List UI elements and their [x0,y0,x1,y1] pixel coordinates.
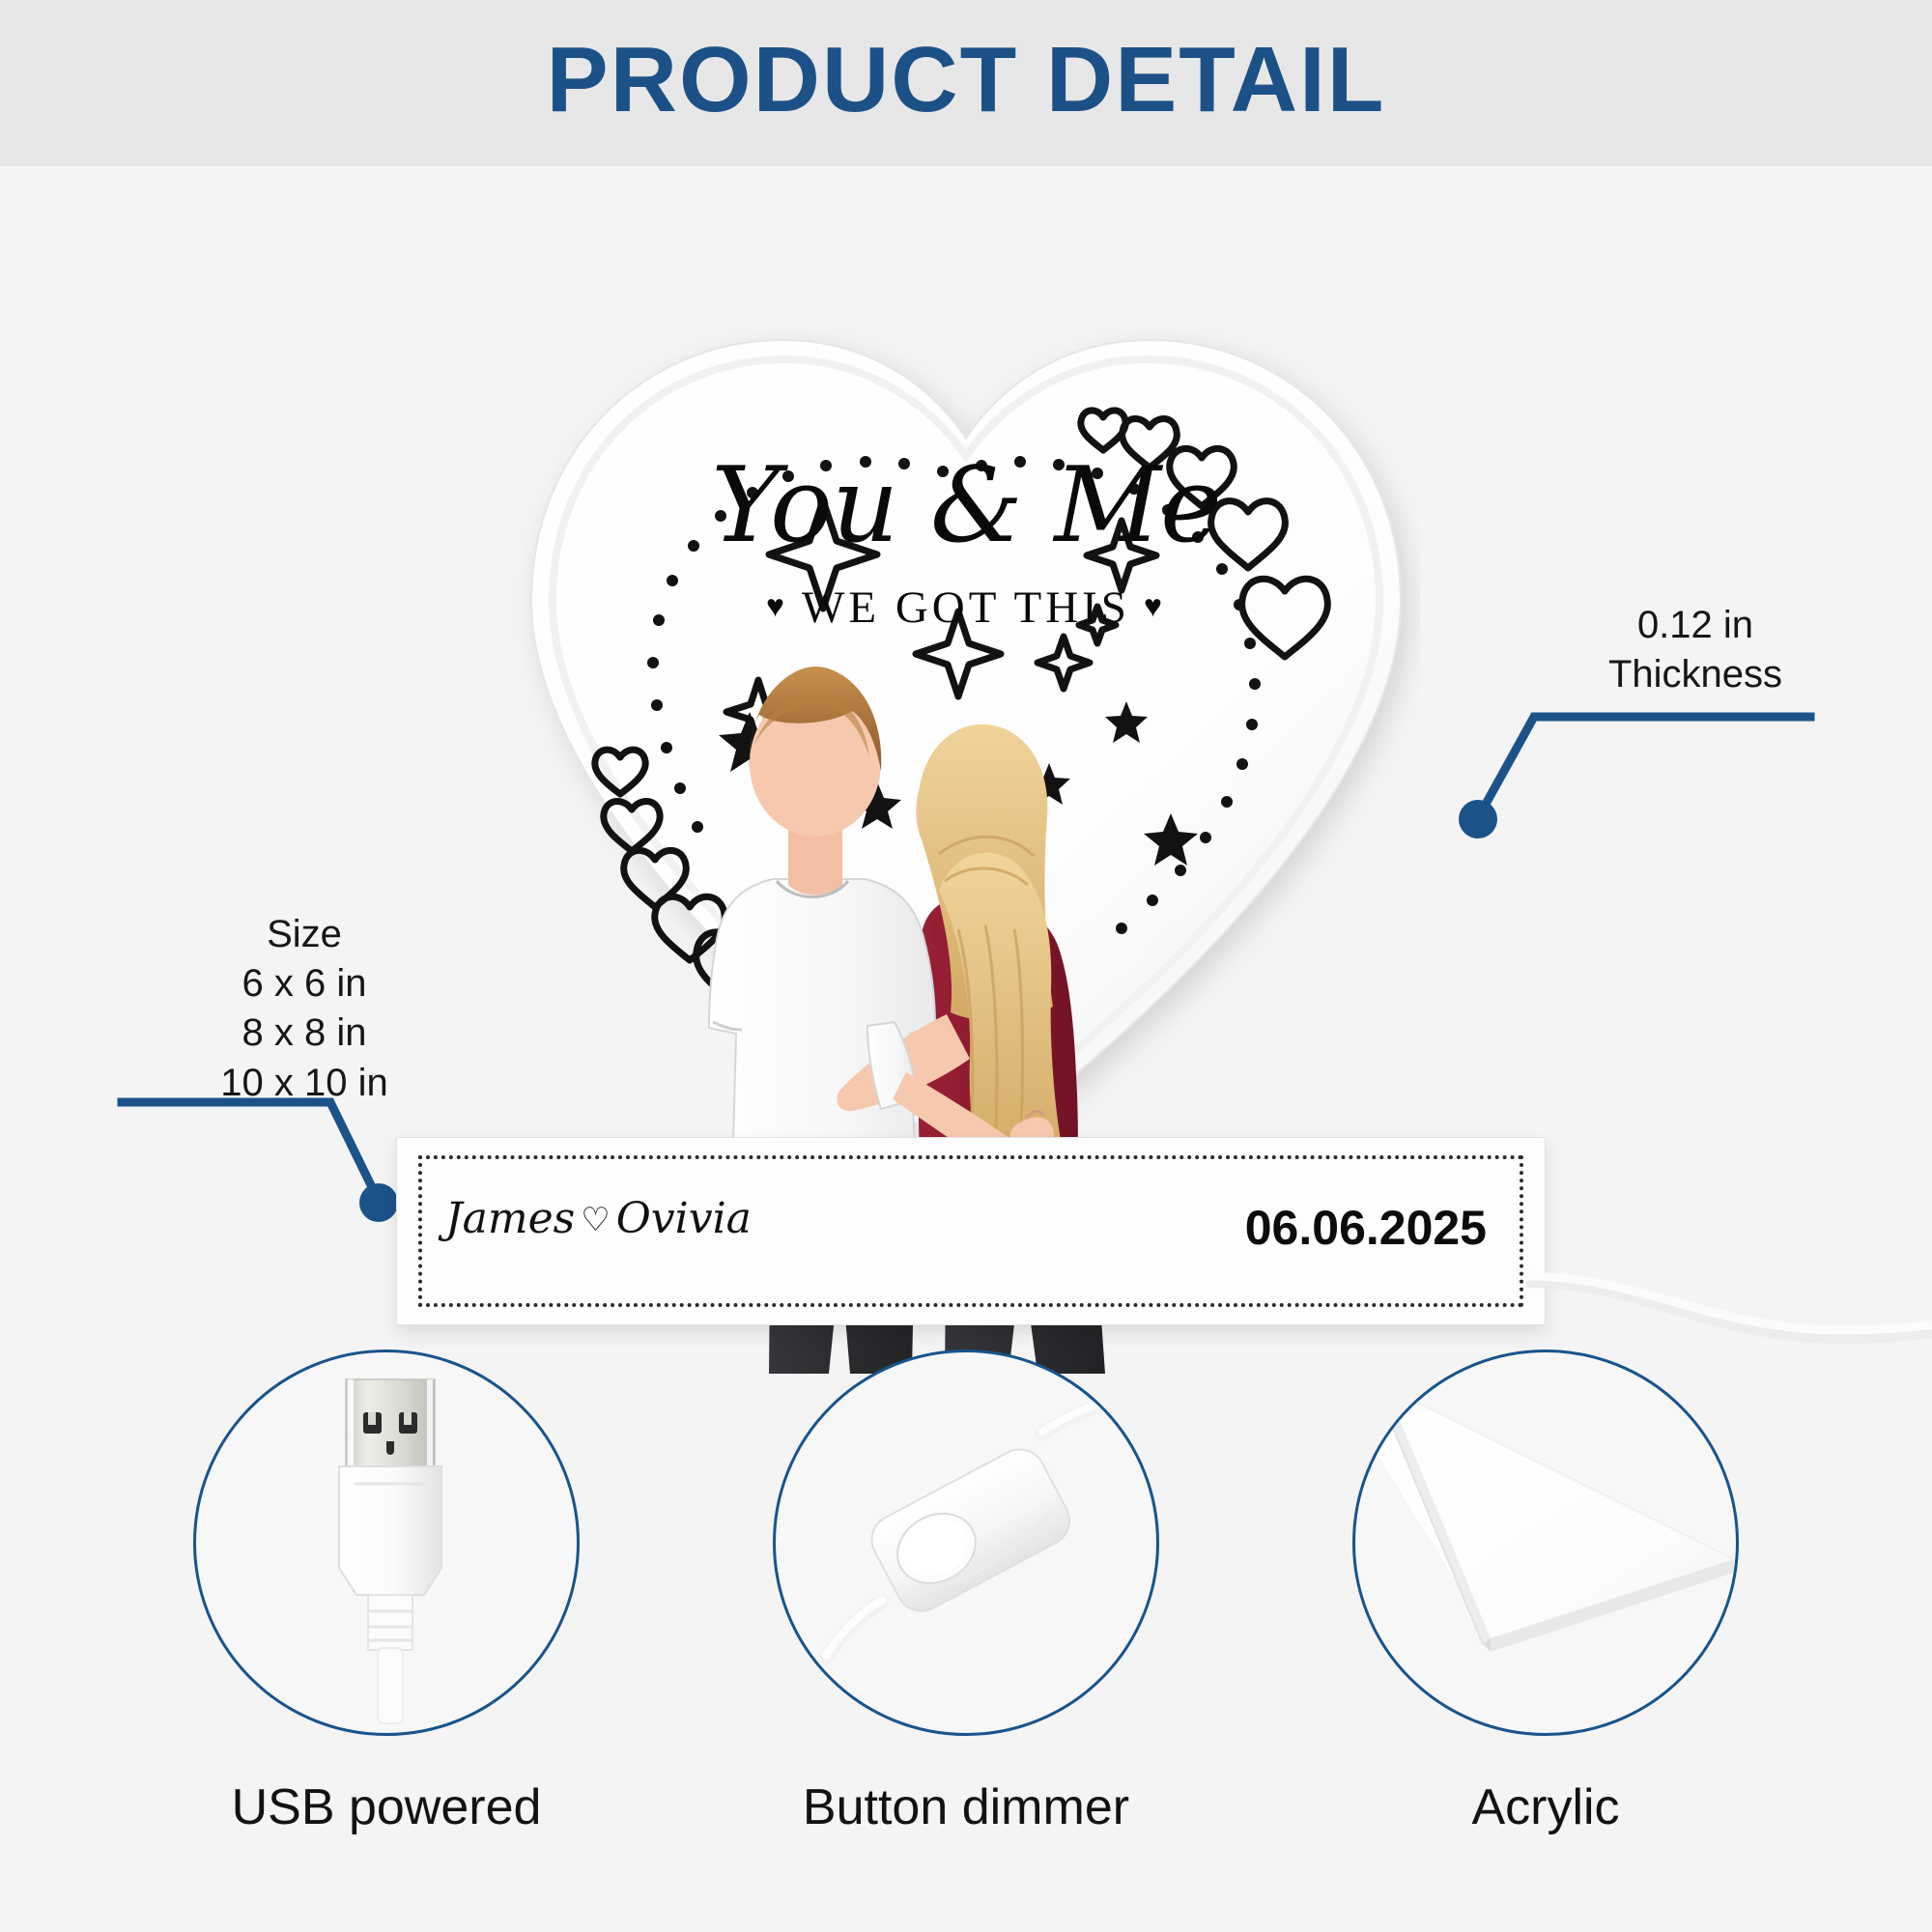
usb-connector-icon [196,1352,580,1736]
feature-acrylic: Acrylic [1333,1350,1758,1890]
dimmer-switch-circle [773,1350,1159,1736]
name-heart-icon: ♡ [575,1201,615,1239]
base-plate-date: 06.06.2025 [1245,1200,1487,1256]
acrylic-sheet-icon [1355,1352,1739,1736]
name-right: Ovivia [616,1194,752,1243]
usb-connector-circle [193,1350,580,1736]
feature-dimmer-label: Button dimmer [803,1778,1129,1836]
page-title: PRODUCT DETAIL [0,27,1932,133]
feature-usb-powered: USB powered [174,1350,599,1890]
name-left: James [445,1194,575,1243]
feature-button-dimmer: Button dimmer [753,1350,1179,1890]
feature-row: USB powered [0,1350,1932,1890]
product-stage: Size 6 x 6 in 8 x 8 in 10 x 10 in 0.12 i… [0,166,1932,1932]
acrylic-sheet-circle [1352,1350,1739,1736]
callout-thickness-leader-line [1430,707,1816,881]
feature-usb-label: USB powered [232,1778,542,1836]
product-illustration: You & Me ♥WE GOT THIS♥ [483,311,1449,1412]
base-plate: James♡Ovivia 06.06.2025 [396,1137,1546,1325]
callout-thickness-label: 0.12 in Thickness [1536,601,1855,699]
callout-size-leader-line [116,1089,435,1243]
base-plate-names: James♡Ovivia [445,1194,752,1243]
callout-size-label: Size 6 x 6 in 8 x 8 in 10 x 10 in [145,910,464,1108]
inline-dimmer-switch-icon [776,1352,1159,1736]
feature-acrylic-label: Acrylic [1471,1778,1619,1836]
